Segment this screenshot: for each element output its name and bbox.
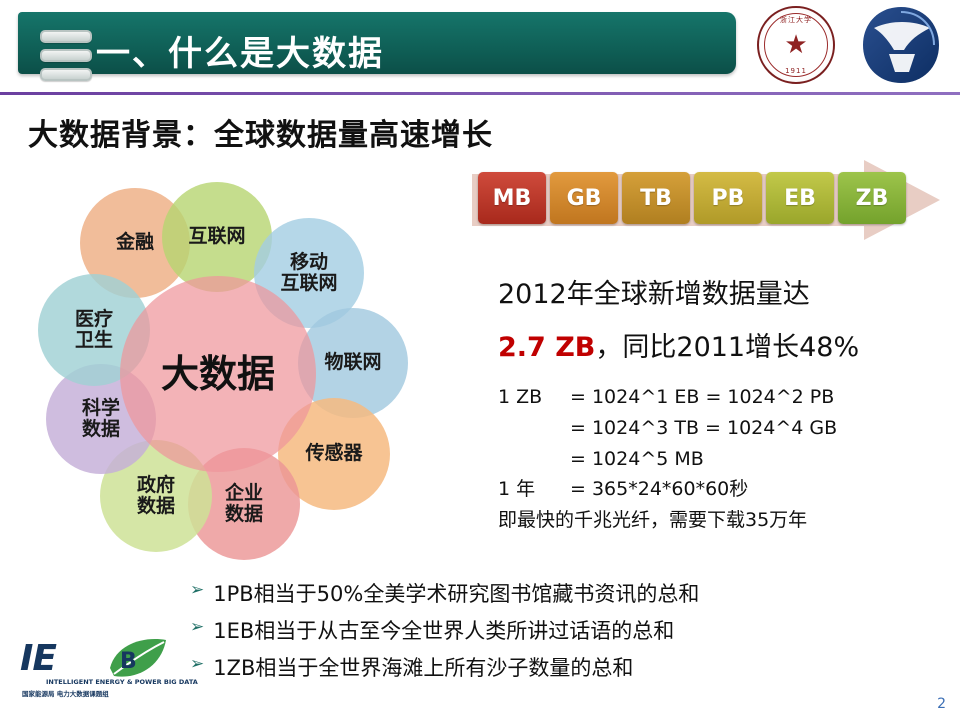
bird-logo-icon — [860, 4, 942, 86]
university-logo-top-text: 浙江大学 — [759, 15, 833, 25]
bubble-science-label2: 数据 — [82, 419, 120, 440]
list-item: ➢1ZB相当于全世界海滩上所有沙子数量的总和 — [190, 652, 950, 682]
section-title-bar: 一、什么是大数据 — [18, 12, 736, 74]
unit-chip-gb-label: GB — [567, 186, 602, 211]
venn-diagram: 金融 互联网 移动 互联网 物联网 传感器 企业 数据 政府 数据 科学 数据 — [28, 168, 448, 568]
unit-chip-pb: PB — [694, 172, 762, 224]
slide-root: 一、什么是大数据 浙江大学 ★ 1911 大数据背景：全球数据量高速增长 金融 … — [0, 0, 960, 720]
bubble-science-label1: 科学 — [82, 398, 120, 419]
unit-chip-tb: TB — [622, 172, 690, 224]
conversion-row-4: 1 年= 365*24*60*60秒 — [498, 474, 837, 505]
unit-chip-mb-label: MB — [493, 186, 532, 211]
conversion-text-2: = 1024^3 TB = 1024^4 GB — [570, 417, 837, 439]
university-logo: 浙江大学 ★ 1911 — [757, 6, 835, 84]
org-logo-text: IE — [20, 638, 56, 679]
bullet-triangle-icon: ➢ — [190, 652, 204, 678]
bullet-list: ➢1PB相当于50%全美学术研究图书馆藏书资讯的总和 ➢1EB相当于从古至今全世… — [190, 578, 950, 689]
stat-line-1: 2012年全球新增数据量达 — [498, 272, 810, 311]
org-logo-subline-2: 国家能源局 电力大数据课题组 — [22, 688, 109, 698]
stat-line-2-rest: ，同比2011增长48% — [595, 332, 859, 363]
bullet-triangle-icon: ➢ — [190, 578, 204, 604]
slide-header: 一、什么是大数据 浙江大学 ★ 1911 — [0, 0, 960, 92]
unit-chip-mb: MB — [478, 172, 546, 224]
bullet-text-1: 1PB相当于50%全美学术研究图书馆藏书资讯的总和 — [213, 578, 699, 608]
bubble-center-label: 大数据 — [161, 353, 275, 396]
bubble-mobile-internet-label2: 互联网 — [280, 273, 337, 294]
conversion-row-2: = 1024^3 TB = 1024^4 GB — [498, 413, 837, 444]
org-logo-subline-1: INTELLIGENT ENERGY & POWER BIG DATA — [46, 678, 198, 686]
conversion-text-4: = 365*24*60*60秒 — [570, 478, 748, 500]
page-title: 大数据背景：全球数据量高速增长 — [28, 110, 493, 154]
section-title-text: 一、什么是大数据 — [96, 26, 384, 75]
bubble-enterprise-label1: 企业 — [225, 483, 263, 504]
bubble-medical-label1: 医疗 — [75, 309, 113, 330]
binder-rings-icon — [36, 20, 94, 92]
conversion-label-1: 1 ZB — [498, 382, 570, 413]
bubble-internet-label: 互联网 — [188, 226, 245, 247]
unit-chip-zb: ZB — [838, 172, 906, 224]
bubble-finance-label: 金融 — [116, 232, 154, 253]
bubble-government-label2: 数据 — [137, 496, 175, 517]
unit-chip-eb: EB — [766, 172, 834, 224]
page-number: 2 — [937, 696, 946, 712]
stat-line-2: 2.7 ZB，同比2011增长48% — [498, 325, 859, 364]
bubble-sensor-label: 传感器 — [305, 443, 362, 464]
unit-chip-pb-label: PB — [712, 186, 745, 211]
bubble-iot-label: 物联网 — [324, 352, 381, 373]
header-divider — [0, 92, 960, 95]
conversion-text-3: = 1024^5 MB — [570, 448, 704, 470]
bubble-mobile-internet-label1: 移动 — [280, 252, 337, 273]
stat-highlight-value: 2.7 ZB — [498, 332, 595, 363]
bullet-text-3: 1ZB相当于全世界海滩上所有沙子数量的总和 — [213, 652, 633, 682]
conversion-text-1: = 1024^1 EB = 1024^2 PB — [570, 386, 834, 408]
list-item: ➢1PB相当于50%全美学术研究图书馆藏书资讯的总和 — [190, 578, 950, 608]
unit-chip-gb: GB — [550, 172, 618, 224]
unit-conversion-block: 1 ZB= 1024^1 EB = 1024^2 PB = 1024^3 TB … — [498, 382, 837, 536]
bullet-text-2: 1EB相当于从古至今全世界人类所讲过话语的总和 — [213, 615, 674, 645]
bubble-government-label1: 政府 — [137, 475, 175, 496]
list-item: ➢1EB相当于从古至今全世界人类所讲过话语的总和 — [190, 615, 950, 645]
svg-text:B: B — [120, 649, 137, 674]
data-unit-scale: MB GB TB PB EB ZB — [472, 160, 942, 240]
bubble-big-data-center: 大数据 — [120, 276, 316, 472]
bubble-enterprise-label2: 数据 — [225, 504, 263, 525]
bubble-medical-label2: 卫生 — [75, 330, 113, 351]
conversion-row-3: = 1024^5 MB — [498, 444, 837, 475]
unit-chip-tb-label: TB — [640, 186, 672, 211]
conversion-row-1: 1 ZB= 1024^1 EB = 1024^2 PB — [498, 382, 837, 413]
unit-chip-eb-label: EB — [784, 186, 816, 211]
bullet-triangle-icon: ➢ — [190, 615, 204, 641]
university-logo-year: 1911 — [759, 67, 833, 75]
conversion-label-4: 1 年 — [498, 474, 570, 505]
conversion-note: 即最快的千兆光纤，需要下载35万年 — [498, 505, 837, 536]
unit-chip-zb-label: ZB — [856, 186, 889, 211]
star-icon: ★ — [784, 32, 807, 58]
